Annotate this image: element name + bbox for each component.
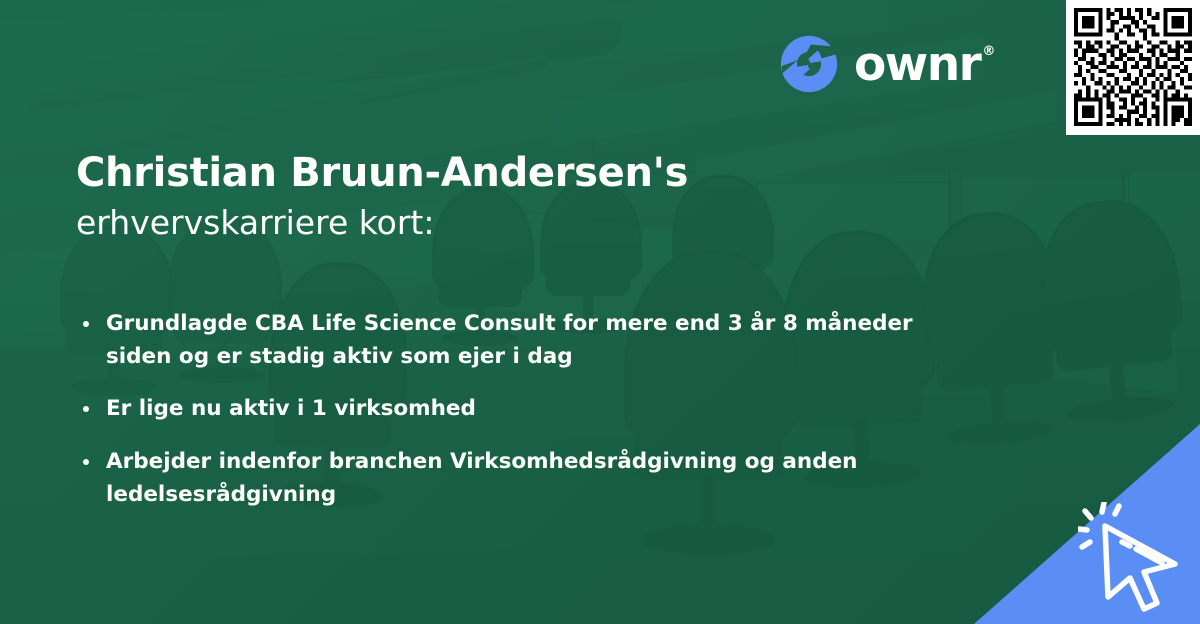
ownr-logo[interactable]: ownr ®: [778, 33, 995, 95]
headline-line-2: erhvervskarriere kort:: [76, 203, 836, 243]
qr-code-panel[interactable]: [1066, 0, 1200, 135]
registered-trademark-icon: ®: [982, 45, 995, 58]
page-title: Christian Bruun-Andersen's erhvervskarri…: [76, 150, 836, 243]
career-facts-list: Grundlagde CBA Life Science Consult for …: [80, 308, 920, 531]
headline-line-1: Christian Bruun-Andersen's: [76, 150, 836, 197]
list-item: Er lige nu aktiv i 1 virksomhed: [80, 393, 920, 426]
list-item: Grundlagde CBA Life Science Consult for …: [80, 308, 920, 373]
ownr-swirl-logo-icon: [778, 33, 840, 95]
list-item: Arbejder indenfor branchen Virksomhedsrå…: [80, 446, 920, 511]
ownr-wordmark-text: ownr: [854, 41, 980, 88]
click-cursor-icon: [1078, 502, 1186, 614]
qr-code-icon: [1074, 8, 1192, 126]
ownr-wordmark: ownr ®: [854, 41, 995, 88]
social-share-card: Christian Bruun-Andersen's erhvervskarri…: [0, 0, 1200, 624]
